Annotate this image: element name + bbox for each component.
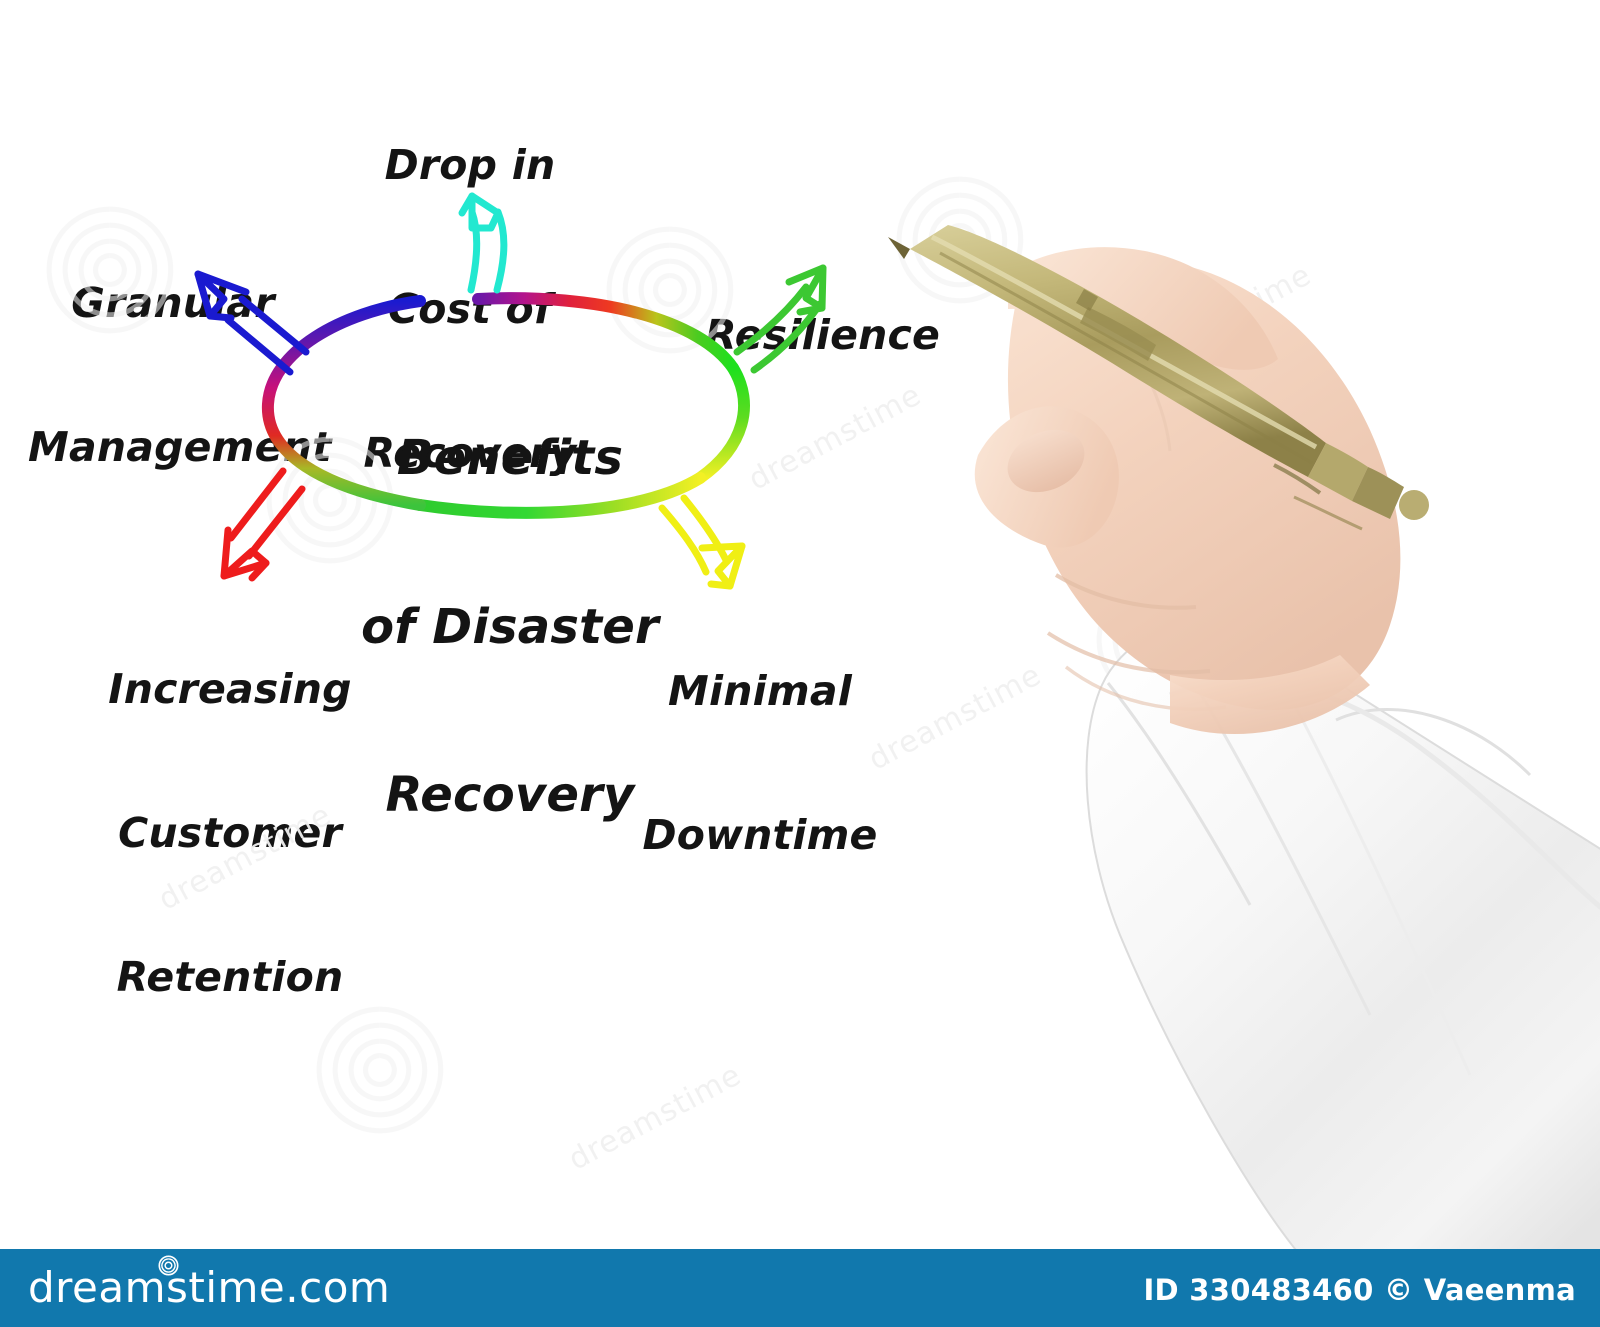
arrow-increasing-customer-retention [224,471,302,578]
arrow-minimal-downtime [662,498,742,586]
arrow-drop-in-cost-of-recovery [462,196,504,290]
registered-spiral-icon [158,1255,179,1276]
dreamstime-logo[interactable]: dreamstime.com [28,1263,390,1312]
arrow-resilience [737,268,823,370]
center-ellipse [268,298,744,513]
screenshot-canvas: dreamstime dreamstime dreamstime dreamst… [0,0,1600,1327]
footer-bar: dreamstime.com ID 330483460 © Vaeenma [0,1249,1600,1327]
image-credit: ID 330483460 © Vaeenma [1143,1273,1576,1307]
diagram-graphics [0,0,1600,1327]
